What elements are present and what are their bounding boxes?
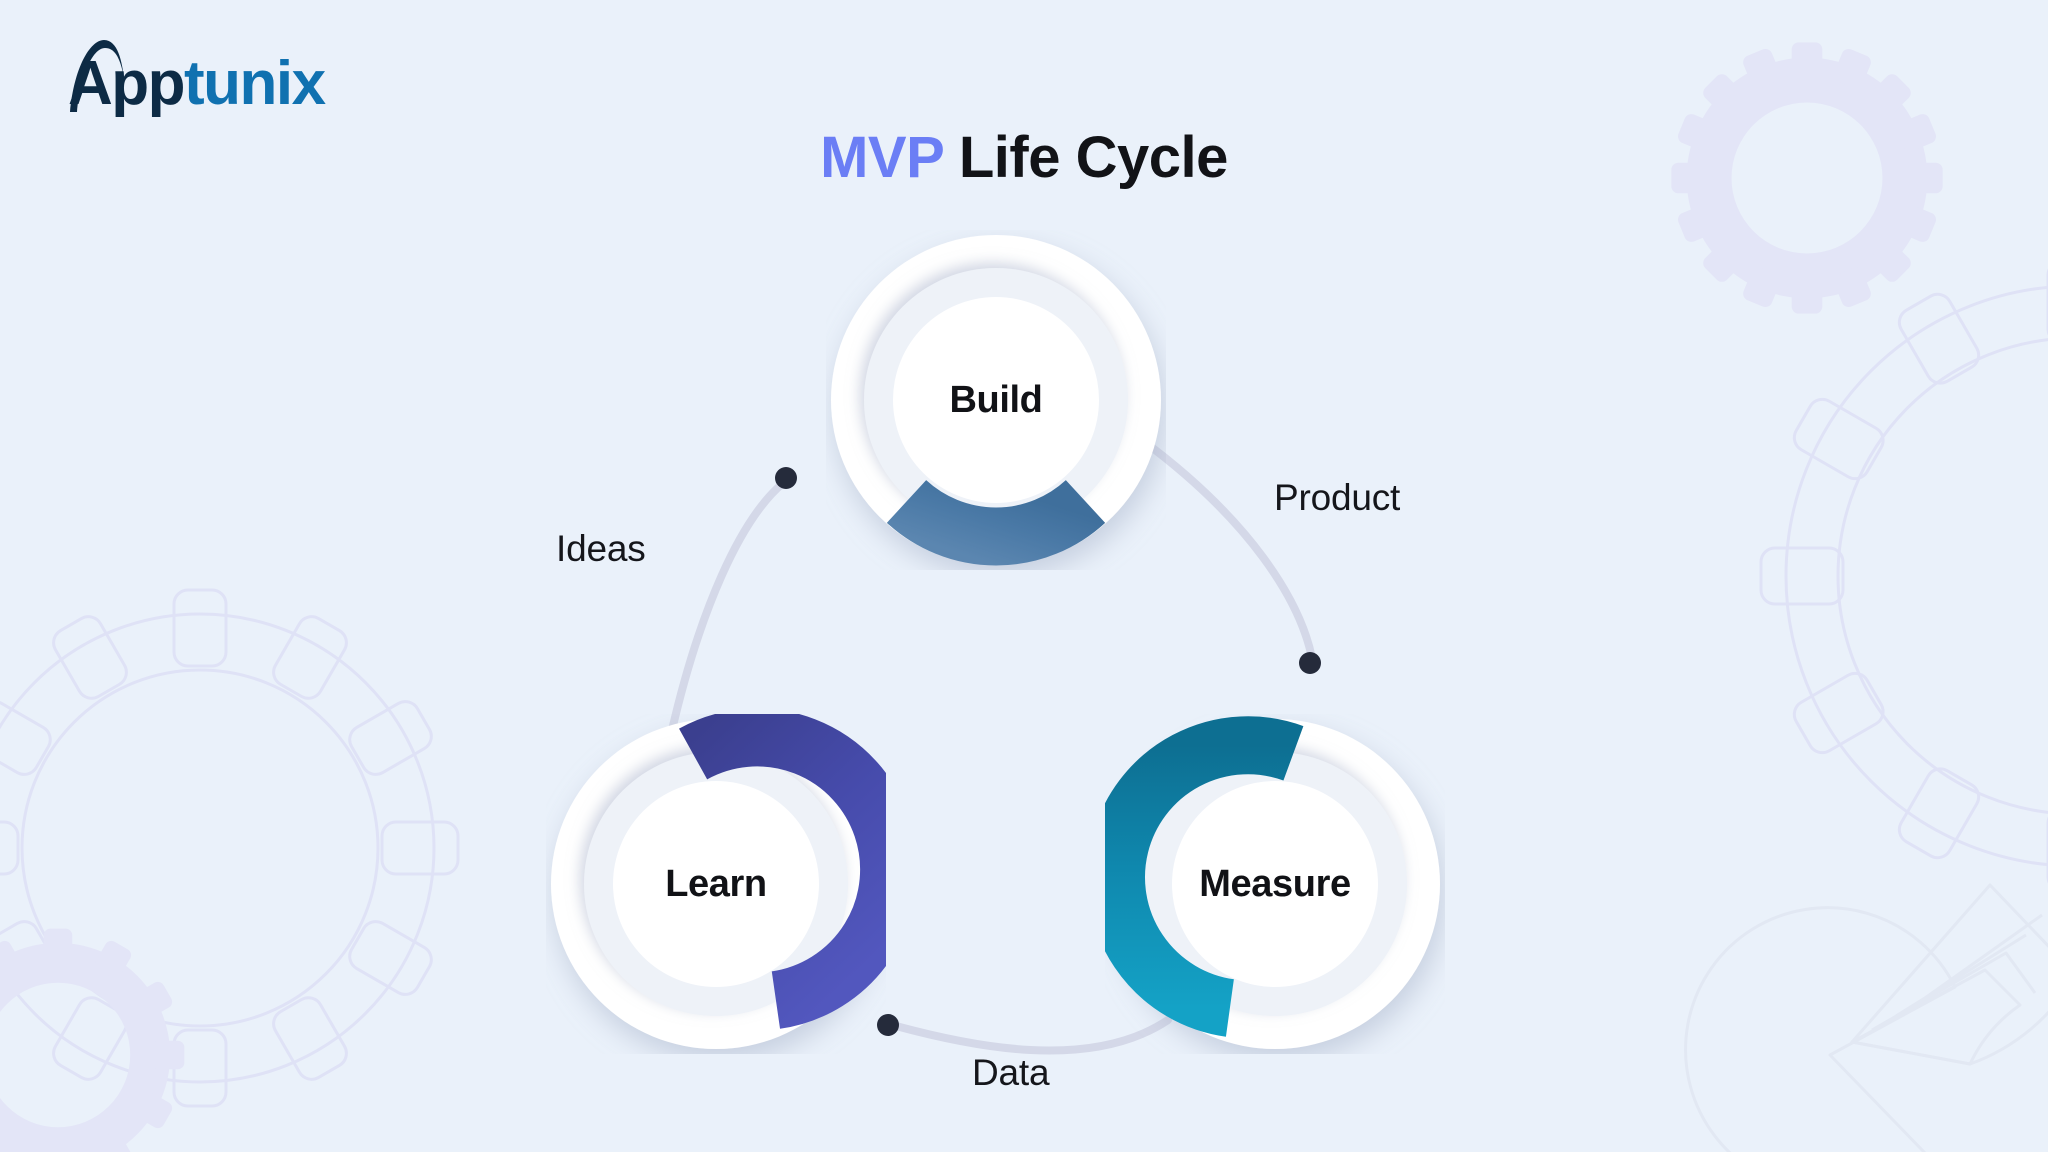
flow-label-data: Data bbox=[972, 1052, 1049, 1094]
cycle-node-measure[interactable]: Measure bbox=[1105, 714, 1445, 1054]
cycle-node-learn[interactable]: Learn bbox=[546, 714, 886, 1054]
flow-label-ideas: Ideas bbox=[556, 528, 646, 570]
cycle-connectors bbox=[0, 0, 2048, 1152]
connector-product bbox=[1142, 440, 1312, 658]
build-label: Build bbox=[826, 230, 1166, 570]
measure-label: Measure bbox=[1105, 714, 1445, 1054]
mvp-life-cycle-infographic: Apptunix MVP Life Cycle bbox=[0, 0, 2048, 1152]
connector-dot-product bbox=[1299, 652, 1321, 674]
connector-ideas bbox=[672, 484, 782, 730]
connector-dot-ideas bbox=[775, 467, 797, 489]
flow-label-product: Product bbox=[1274, 477, 1400, 519]
learn-label: Learn bbox=[546, 714, 886, 1054]
cycle-node-build[interactable]: Build bbox=[826, 230, 1166, 570]
